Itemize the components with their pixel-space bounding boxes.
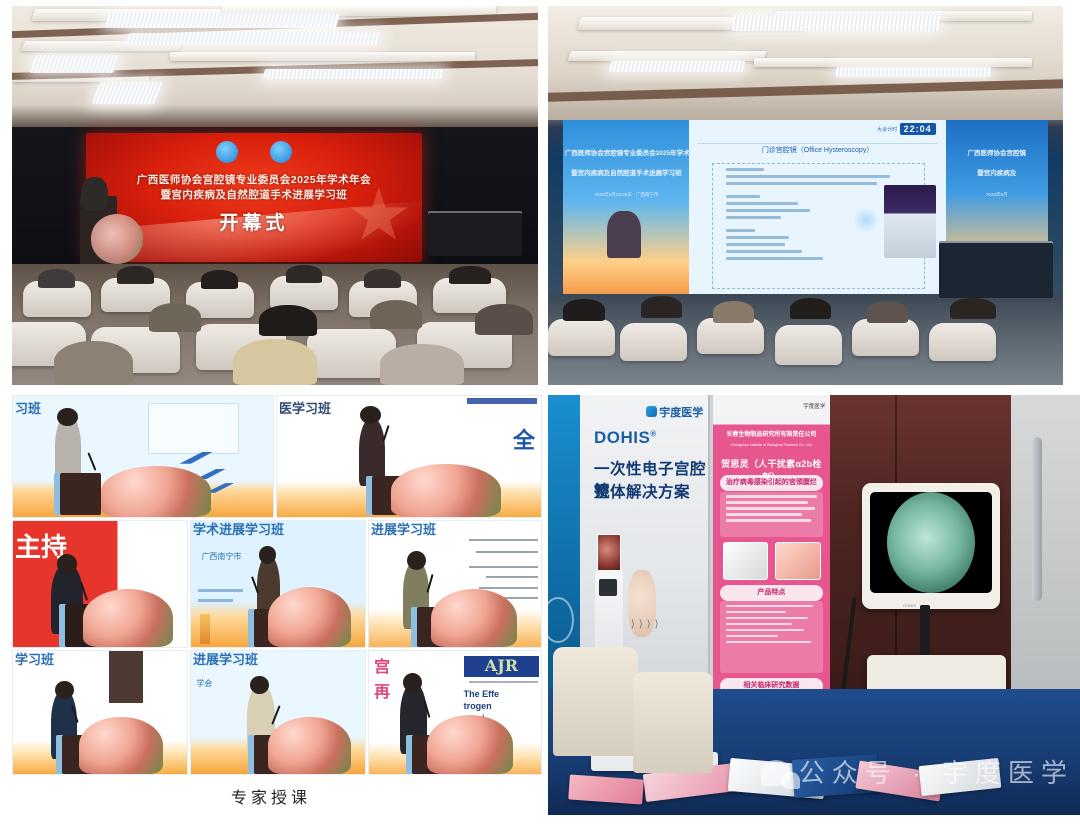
chandelier — [105, 14, 340, 28]
wechat-icon — [761, 760, 791, 786]
logo-mark — [216, 141, 238, 163]
flower-arrangement — [91, 214, 144, 263]
chandelier — [126, 33, 382, 45]
arrow-icons: ⟩⟩⟩⟩ — [631, 619, 663, 630]
interferon-poster: 宇度医学 长春生物制品研究所有限责任公司 Changchun Institute… — [713, 395, 832, 723]
audience-area — [12, 264, 538, 385]
anatomy-photo — [775, 542, 821, 580]
brand-lockup: 宇度医学 — [646, 404, 703, 420]
brand-name: 宇度医学 — [659, 407, 703, 419]
logo-mark — [270, 141, 292, 163]
cell-screen-text: 学习班 — [15, 650, 54, 668]
panel-table — [939, 241, 1052, 298]
collage-caption: 专家授课 — [0, 784, 542, 808]
collage-cell: 学习班 — [12, 650, 188, 775]
collage-cell: 医学习班 全 — [276, 395, 542, 518]
journal-logo: AJR — [464, 656, 540, 677]
right-banner-date: 2025年5月 — [947, 192, 1047, 198]
poster-company-en: Changchun Institute of Biological Produc… — [718, 443, 826, 447]
cell-screen-text: 医学习班 — [279, 398, 331, 417]
right-wall — [1011, 395, 1080, 697]
foreground-chair — [633, 672, 713, 773]
product-line-2: 整体解决方案 — [594, 480, 690, 502]
collage-cell: 宫 再 AJR The Effe trogen ressi Homet — [368, 650, 542, 775]
cell-screen-text-2: 再 — [374, 678, 390, 702]
monitor-screen — [870, 492, 992, 593]
cell-screen-text: 进展学习班 — [193, 650, 258, 668]
watermark-text: 公众号 · 宇度医学 — [799, 758, 1074, 788]
opening-ceremony-photo: 广西医师协会宫腔镜专业委员会2025年学术年会 暨宫内疾病及自然腔道手术进展学习… — [12, 6, 538, 385]
product-photo — [723, 542, 767, 580]
cell-screen-text: 习班 — [15, 398, 41, 417]
collage-page: 广西医师协会宫腔镜专业委员会2025年学术年会 暨宫内疾病及自然腔道手术进展学习… — [0, 0, 1080, 831]
foreground-chair — [553, 647, 638, 756]
poster-company: 长春生物制品研究所有限责任公司 — [718, 429, 826, 438]
collage-cell: 进展学习班 — [368, 520, 542, 648]
monitor-brand-label: DOHIS — [903, 603, 916, 608]
chandelier — [264, 69, 445, 79]
endoscopy-monitor: DOHIS — [862, 483, 1000, 609]
cell-screen-text-2: 广西南宁市 — [201, 551, 241, 562]
wechat-watermark: 公众号 · 宇度医学 — [761, 760, 1080, 806]
brand-logo-icon — [646, 406, 657, 417]
cell-screen-text: 进展学习班 — [371, 520, 436, 538]
side-table — [428, 211, 523, 256]
cell-screen-text: 宫 — [374, 653, 390, 677]
slide-area: 大会计时 22:04 门诊宫腔镜（Office Hysteroscopy） — [689, 120, 946, 302]
endoscopic-image — [597, 534, 622, 572]
collage-cell: 进展学习班 学会 — [190, 650, 366, 775]
right-banner-line2: 暨宫内疾病及 — [947, 167, 1047, 177]
collage-cell: 学术进展学习班 广西南宁市 — [190, 520, 366, 648]
collage-cell: 主持 — [12, 520, 188, 648]
led-title-line1: 广西医师协会宫腔镜专业委员会2025年学术年会 — [86, 172, 423, 187]
exhibition-booth-photo: 宇度医学 DOHIS® 一次性电子宫腔镜 整体解决方案 ⟩⟩⟩⟩ 宇度医学 长春… — [548, 395, 1080, 815]
ceiling-panel — [170, 52, 475, 60]
led-title-line2: 暨宫内疾病及自然腔道手术进展学习班 — [86, 187, 423, 202]
lecture-hall-photo: 广西医师协会宫腔镜专业委员会2025年学术年会 暨宫内疾病及自然腔道手术进展学习… — [548, 6, 1063, 385]
audience-area — [548, 294, 1063, 385]
left-banner-line2: 暨宫内疾病及自然腔道手术进展学习班 — [565, 167, 688, 177]
speaker-at-podium — [607, 211, 641, 258]
chandelier — [92, 82, 164, 104]
right-banner-line1: 广西医师协会宫腔镜 — [947, 147, 1047, 157]
brochure — [568, 775, 644, 805]
cell-screen-text-2: 全 — [513, 423, 535, 455]
left-banner-date: 2025年5月23-25日 · 广西南宁市 — [565, 192, 688, 198]
speaker-at-podium — [81, 177, 107, 211]
poster-section-1: 产品特点 — [720, 585, 823, 601]
slide-watermark — [853, 207, 879, 233]
poster-indication: 治疗病毒感染引起的宫颈糜烂 — [720, 475, 823, 491]
chandelier — [30, 55, 121, 73]
timer-label: 大会计时 — [877, 126, 897, 133]
left-banner-line1: 广西医师协会宫腔镜专业委员会2025年学术年会 — [565, 147, 688, 157]
endoscopic-view — [887, 492, 975, 593]
device-illustration — [884, 185, 935, 258]
ceiling — [548, 6, 1063, 120]
expert-lectures-collage: 习班 医学习班 全 主持 — [12, 395, 542, 780]
ceiling — [12, 6, 538, 142]
session-timer: 22:04 — [900, 123, 936, 135]
collage-cell: 习班 — [12, 395, 274, 518]
association-logos — [86, 141, 423, 163]
cell-screen-text: 学术进展学习班 — [193, 520, 284, 538]
product-name: DOHIS® — [594, 428, 657, 448]
slide-title: 门诊宫腔镜（Office Hysteroscopy） — [689, 145, 946, 155]
